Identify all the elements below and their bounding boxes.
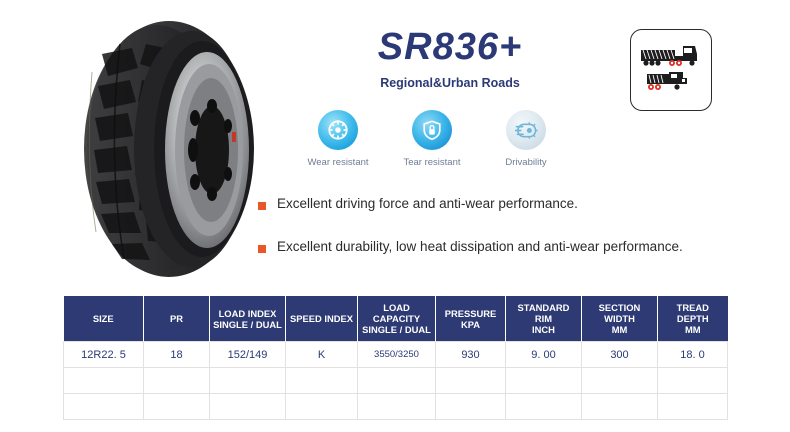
tire-photo: 12R22.5 — [62, 14, 277, 284]
speed-gear-icon — [506, 110, 546, 150]
column-header-load-capacity: LOAD CAPACITY SINGLE / DUAL — [358, 296, 436, 342]
cell-speed-index: K — [286, 342, 358, 368]
specification-table: SIZE PR LOAD INDEX SINGLE / DUAL SPEED I… — [63, 296, 728, 420]
table-row-empty — [64, 394, 728, 420]
tire-illustration: 12R22.5 — [62, 14, 277, 284]
product-tagline: Regional&Urban Roads — [300, 76, 600, 90]
column-header-pr: PR — [144, 296, 210, 342]
column-header-pressure: PRESSURE KPA — [436, 296, 506, 342]
bullet-square-icon — [258, 245, 266, 253]
column-header-section-width: SECTION WIDTH MM — [582, 296, 658, 342]
product-title-block: SR836+ Regional&Urban Roads — [300, 28, 600, 90]
dump-truck-icon — [647, 72, 687, 90]
feature-icons-row: Wear resistant Tear resistant — [292, 110, 572, 168]
table-row: 12R22. 5 18 152/149 K 3550/3250 930 9. 0… — [64, 342, 728, 368]
feature-wear-resistant: Wear resistant — [292, 110, 384, 168]
column-header-load-index: LOAD INDEX SINGLE / DUAL — [210, 296, 286, 342]
product-spec-sheet: 12R22.5 SR836+ Regional&Urban — [0, 0, 790, 432]
feature-drivability: Drivability — [480, 110, 572, 168]
feature-tear-resistant: Tear resistant — [386, 110, 478, 168]
list-item: Excellent driving force and anti-wear pe… — [258, 196, 728, 213]
column-header-speed-index: SPEED INDEX — [286, 296, 358, 342]
truck-applications-badge — [630, 29, 712, 111]
cell-size: 12R22. 5 — [64, 342, 144, 368]
truck-icons-group — [639, 42, 703, 98]
cell-load-index: 152/149 — [210, 342, 286, 368]
benefit-text: Excellent durability, low heat dissipati… — [277, 239, 683, 256]
semi-trailer-truck-icon — [641, 46, 697, 66]
table-header-row: SIZE PR LOAD INDEX SINGLE / DUAL SPEED I… — [64, 296, 728, 342]
shield-lock-icon — [412, 110, 452, 150]
table-row-empty — [64, 368, 728, 394]
cell-load-capacity: 3550/3250 — [358, 342, 436, 368]
benefits-list: Excellent driving force and anti-wear pe… — [258, 196, 728, 282]
feature-label: Tear resistant — [386, 157, 478, 168]
cell-pr: 18 — [144, 342, 210, 368]
cell-section-width: 300 — [582, 342, 658, 368]
benefit-text: Excellent driving force and anti-wear pe… — [277, 196, 578, 213]
feature-label: Wear resistant — [292, 157, 384, 168]
cell-standard-rim: 9. 00 — [506, 342, 582, 368]
column-header-tread-depth: TREAD DEPTH MM — [658, 296, 728, 342]
cell-pressure: 930 — [436, 342, 506, 368]
cell-tread-depth: 18. 0 — [658, 342, 728, 368]
wheel-snowflake-icon — [318, 110, 358, 150]
bullet-square-icon — [258, 202, 266, 210]
column-header-size: SIZE — [64, 296, 144, 342]
page-title: SR836+ — [300, 28, 600, 66]
feature-label: Drivability — [480, 157, 572, 168]
list-item: Excellent durability, low heat dissipati… — [258, 239, 728, 256]
column-header-standard-rim: STANDARD RIM INCH — [506, 296, 582, 342]
